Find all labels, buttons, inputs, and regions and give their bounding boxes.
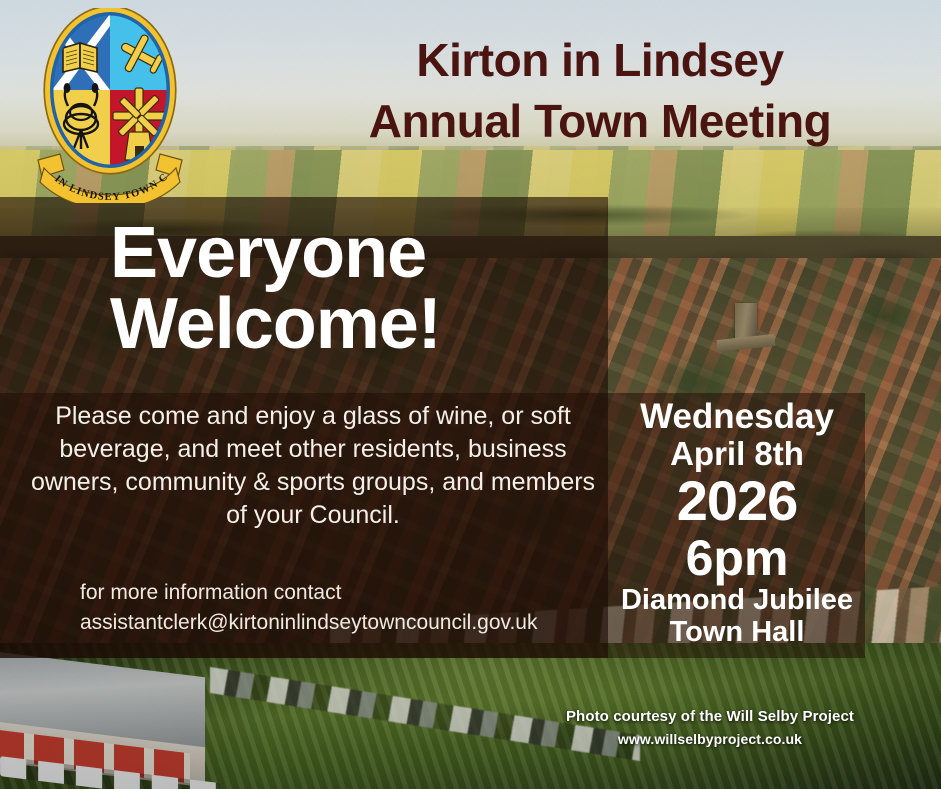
headline-line-2: Annual Town Meeting [300, 91, 900, 152]
poster-headline: Kirton in Lindsey Annual Town Meeting [300, 30, 900, 151]
event-details-block: Wednesday April 8th 2026 6pm Diamond Jub… [610, 398, 864, 649]
headline-line-1: Kirton in Lindsey [300, 30, 900, 91]
photo-credit: Photo courtesy of the Will Selby Project… [540, 706, 880, 750]
contact-block: for more information contact assistantcl… [80, 578, 600, 638]
photo-credit-url[interactable]: www.willselbyproject.co.uk [540, 729, 880, 750]
event-venue-line-1: Diamond Jubilee [610, 585, 864, 617]
contact-label: for more information contact [80, 578, 600, 608]
event-day: Wednesday [610, 398, 864, 436]
contact-email[interactable]: assistantclerk@kirtoninlindseytowncounci… [80, 608, 600, 638]
event-date: April 8th [610, 436, 864, 472]
event-year: 2026 [610, 471, 864, 530]
welcome-heading: Everyone Welcome! [110, 218, 580, 359]
invitation-blurb: Please come and enjoy a glass of wine, o… [28, 400, 598, 532]
open-book-icon [63, 43, 97, 72]
poster: KIRTON IN LINDSEY TOWN COUNCIL Kirton in… [0, 0, 941, 789]
photo-credit-line: Photo courtesy of the Will Selby Project [540, 706, 880, 729]
church-tower [735, 303, 757, 345]
welcome-line-1: Everyone [110, 218, 580, 289]
event-venue-line-2: Town Hall [610, 617, 864, 649]
council-crest: KIRTON IN LINDSEY TOWN COUNCIL [30, 8, 190, 203]
welcome-line-2: Welcome! [110, 289, 580, 360]
event-time: 6pm [610, 531, 864, 585]
